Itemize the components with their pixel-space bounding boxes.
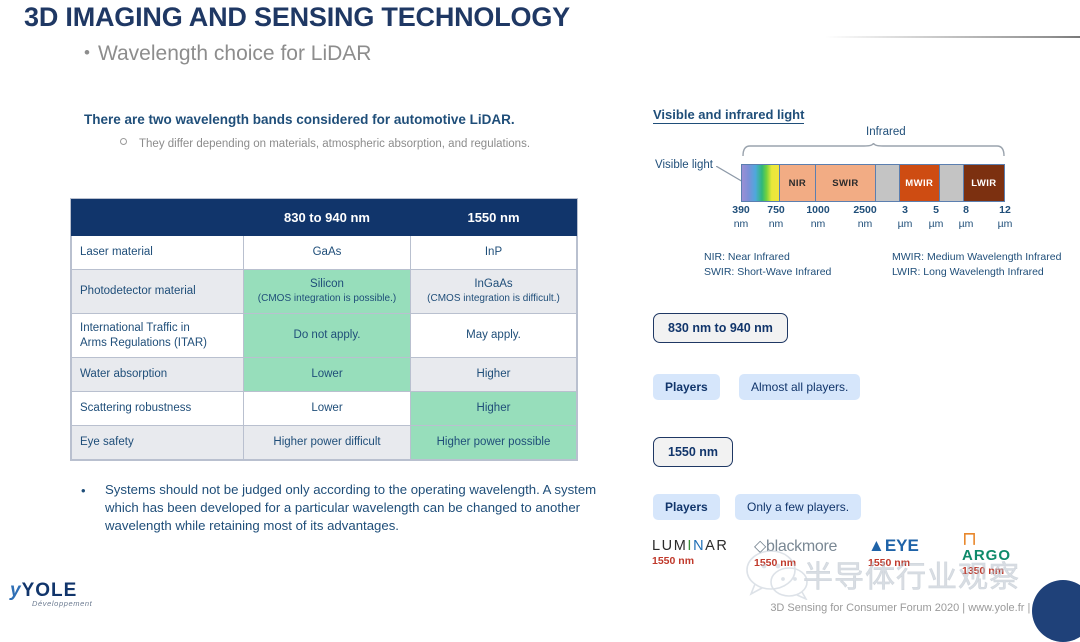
table-cell-830-940: Silicon(CMOS integration is possible.)	[244, 270, 411, 314]
table-cell-1550: InP	[411, 236, 577, 270]
logo-blackmore: ◇blackmore 1550 nm	[754, 536, 837, 569]
legend-lwir: LWIR: Long Wavelength Infrared	[892, 265, 1061, 280]
table-row: Photodetector materialSilicon(CMOS integ…	[72, 270, 577, 314]
table-row-label: International Traffic inArms Regulations…	[72, 314, 244, 358]
table-row-label: Photodetector material	[72, 270, 244, 314]
footer-text: 3D Sensing for Consumer Forum 2020 | www…	[770, 602, 1066, 614]
table-header-band-1550: 1550 nm	[411, 200, 577, 236]
sub-lead-label: They differ depending on materials, atmo…	[139, 138, 530, 150]
spectrum-segment-nir: NIR	[780, 165, 817, 201]
table-cell-1550: Higher power possible	[411, 426, 577, 460]
subtitle-text: Wavelength choice for LiDAR	[98, 42, 372, 65]
table-row: Laser materialGaAsInP	[72, 236, 577, 270]
logo-luminar: LUMINAR 1550 nm	[652, 538, 728, 567]
logo-argo-wordmark: ARGO	[962, 547, 1011, 564]
players-label-band2: Players	[653, 494, 720, 520]
legend-nir: NIR: Near Infrared	[704, 250, 831, 265]
note-text: Systems should not be judged only accord…	[105, 482, 596, 533]
company-logo-row: LUMINAR 1550 nm ◇blackmore 1550 nm ▲EYE …	[652, 536, 1052, 582]
players-label-band1: Players	[653, 374, 720, 400]
band-pill-830-940[interactable]: 830 nm to 940 nm	[653, 313, 788, 343]
table-row: International Traffic inArms Regulations…	[72, 314, 577, 358]
spectrum-segment-visible	[742, 165, 780, 201]
table-row: Scattering robustnessLowerHigher	[72, 392, 577, 426]
spectrum-segment-swir: SWIR	[816, 165, 876, 201]
logo-argo-wavelength: 1350 nm	[962, 565, 1011, 577]
table-header-band-830-940: 830 to 940 nm	[244, 200, 411, 236]
spectrum-legend-left: NIR: Near Infrared SWIR: Short-Wave Infr…	[704, 250, 831, 280]
lead-text: There are two wavelength bands considere…	[84, 112, 515, 127]
slide-root: 3D IMAGING AND SENSING TECHNOLOGY •Wavel…	[0, 0, 1080, 620]
table-row-label: Laser material	[72, 236, 244, 270]
visible-light-label: Visible light	[655, 159, 713, 171]
spectrum-tick-labels: 390nm750nm1000nm2500nm3µm5µm8µm12µm	[700, 203, 1030, 235]
table-cell-830-940: Lower	[244, 358, 411, 392]
table-cell-830-940: Do not apply.	[244, 314, 411, 358]
logo-blackmore-wordmark: ◇blackmore	[754, 536, 837, 556]
logo-luminar-wavelength: 1550 nm	[652, 555, 728, 567]
spectrum-heading: Visible and infrared light	[653, 107, 804, 124]
yole-logo: yYOLE Développement	[10, 580, 92, 608]
table-row-label: Eye safety	[72, 426, 244, 460]
players-value-band1: Almost all players.	[739, 374, 860, 400]
note-bullet-icon: •	[81, 482, 86, 500]
logo-argo: ⊓ ARGO 1350 nm	[962, 532, 1011, 577]
table-row-label: Scattering robustness	[72, 392, 244, 426]
table-cell-830-940: Higher power difficult	[244, 426, 411, 460]
table-body: Laser materialGaAsInPPhotodetector mater…	[72, 236, 577, 460]
table-header-blank	[72, 200, 244, 236]
spectrum-tick-750: 750nm	[753, 203, 799, 231]
logo-aeye-wordmark: ▲EYE	[868, 536, 919, 556]
page-subtitle: •Wavelength choice for LiDAR	[84, 42, 371, 66]
yole-y-glyph-icon: y	[10, 580, 22, 601]
header-divider	[825, 36, 1080, 38]
players-value-band2: Only a few players.	[735, 494, 861, 520]
subtitle-bullet-icon: •	[84, 43, 90, 62]
logo-aeye: ▲EYE 1550 nm	[868, 536, 919, 569]
table-cell-830-940: Lower	[244, 392, 411, 426]
spectrum-segment-mwir: MWIR	[900, 165, 940, 201]
table-cell-1550: May apply.	[411, 314, 577, 358]
spectrum-segment-gap	[940, 165, 964, 201]
spectrum-segment-gap	[876, 165, 900, 201]
logo-argo-mark-icon: ⊓	[962, 532, 1011, 547]
logo-aeye-wavelength: 1550 nm	[868, 557, 919, 569]
legend-mwir: MWIR: Medium Wavelength Infrared	[892, 250, 1061, 265]
table-cell-1550: InGaAs(CMOS integration is difficult.)	[411, 270, 577, 314]
legend-swir: SWIR: Short-Wave Infrared	[704, 265, 831, 280]
table-row-label: Water absorption	[72, 358, 244, 392]
band-pill-1550[interactable]: 1550 nm	[653, 437, 733, 467]
spectrum-tick-1000: 1000nm	[795, 203, 841, 231]
yole-tagline: Développement	[32, 599, 92, 608]
table-cell-830-940: GaAs	[244, 236, 411, 270]
table-cell-1550: Higher	[411, 358, 577, 392]
spectrum-legend-right: MWIR: Medium Wavelength Infrared LWIR: L…	[892, 250, 1061, 280]
table-row: Eye safetyHigher power difficultHigher p…	[72, 426, 577, 460]
corner-decoration	[1032, 580, 1080, 642]
wavelength-comparison-table: 830 to 940 nm 1550 nm Laser materialGaAs…	[71, 199, 577, 460]
logo-blackmore-wavelength: 1550 nm	[754, 557, 837, 569]
closing-note: • Systems should not be judged only acco…	[105, 481, 633, 536]
yole-brand-name: YOLE	[22, 580, 78, 601]
sub-lead-text: They differ depending on materials, atmo…	[120, 138, 530, 150]
table-cell-1550: Higher	[411, 392, 577, 426]
spectrum-tick-12: 12µm	[982, 203, 1028, 231]
logo-luminar-wordmark: LUMINAR	[652, 538, 728, 554]
table-header-row: 830 to 940 nm 1550 nm	[72, 200, 577, 236]
hollow-bullet-icon	[120, 138, 127, 145]
spectrum-bar: NIRSWIRMWIRLWIR	[741, 164, 1005, 202]
spectrum-segment-lwir: LWIR	[964, 165, 1004, 201]
infrared-bracket-icon	[742, 143, 1005, 157]
table-row: Water absorptionLowerHigher	[72, 358, 577, 392]
page-title: 3D IMAGING AND SENSING TECHNOLOGY	[24, 2, 570, 33]
infrared-label: Infrared	[866, 126, 906, 138]
